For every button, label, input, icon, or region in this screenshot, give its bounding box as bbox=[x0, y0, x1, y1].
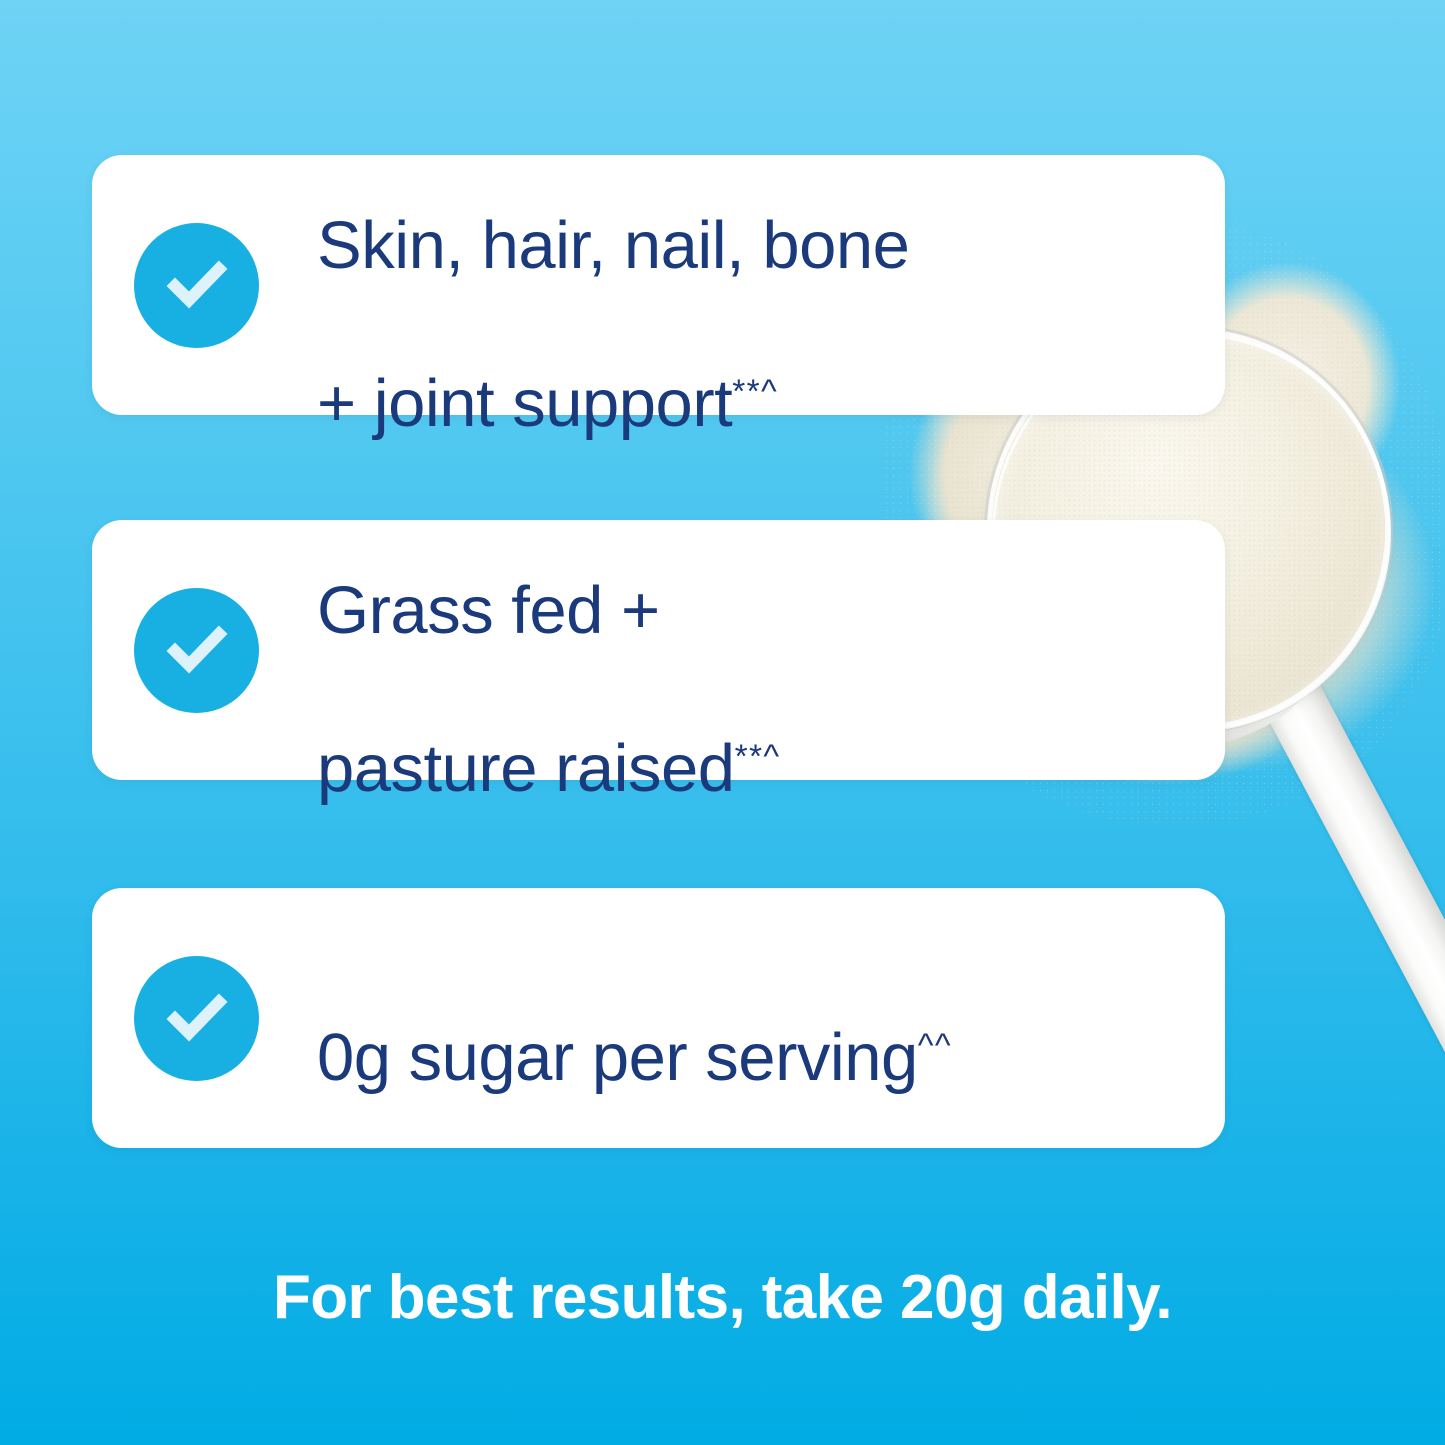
check-icon bbox=[134, 223, 259, 348]
benefit-card-skin-hair-nail-bone: Skin, hair, nail, bone + joint support**… bbox=[92, 155, 1225, 415]
benefit-footnote-marker: ^^ bbox=[918, 1028, 952, 1065]
benefit-line-2: pasture raised bbox=[317, 731, 735, 806]
benefit-line-1: Grass fed + bbox=[317, 573, 660, 648]
product-feature-graphic: Skin, hair, nail, bone + joint support**… bbox=[0, 0, 1445, 1445]
benefit-card-grass-fed-pasture-raised: Grass fed + pasture raised**^ bbox=[92, 520, 1225, 780]
benefit-label: 0g sugar per serving^^ bbox=[317, 939, 952, 1097]
benefit-footnote-marker: **^ bbox=[735, 739, 781, 776]
benefit-label: Skin, hair, nail, bone + joint support**… bbox=[317, 127, 909, 443]
benefit-line-1: Skin, hair, nail, bone bbox=[317, 208, 909, 283]
usage-note: For best results, take 20g daily. bbox=[0, 1262, 1445, 1333]
check-icon bbox=[134, 588, 259, 713]
check-icon bbox=[134, 956, 259, 1081]
benefit-footnote-marker: **^ bbox=[732, 374, 778, 411]
benefit-line-2: + joint support bbox=[317, 366, 732, 441]
benefit-card-zero-sugar: 0g sugar per serving^^ bbox=[92, 888, 1225, 1148]
benefit-line-1: 0g sugar per serving bbox=[317, 1020, 918, 1095]
benefit-label: Grass fed + pasture raised**^ bbox=[317, 492, 780, 808]
